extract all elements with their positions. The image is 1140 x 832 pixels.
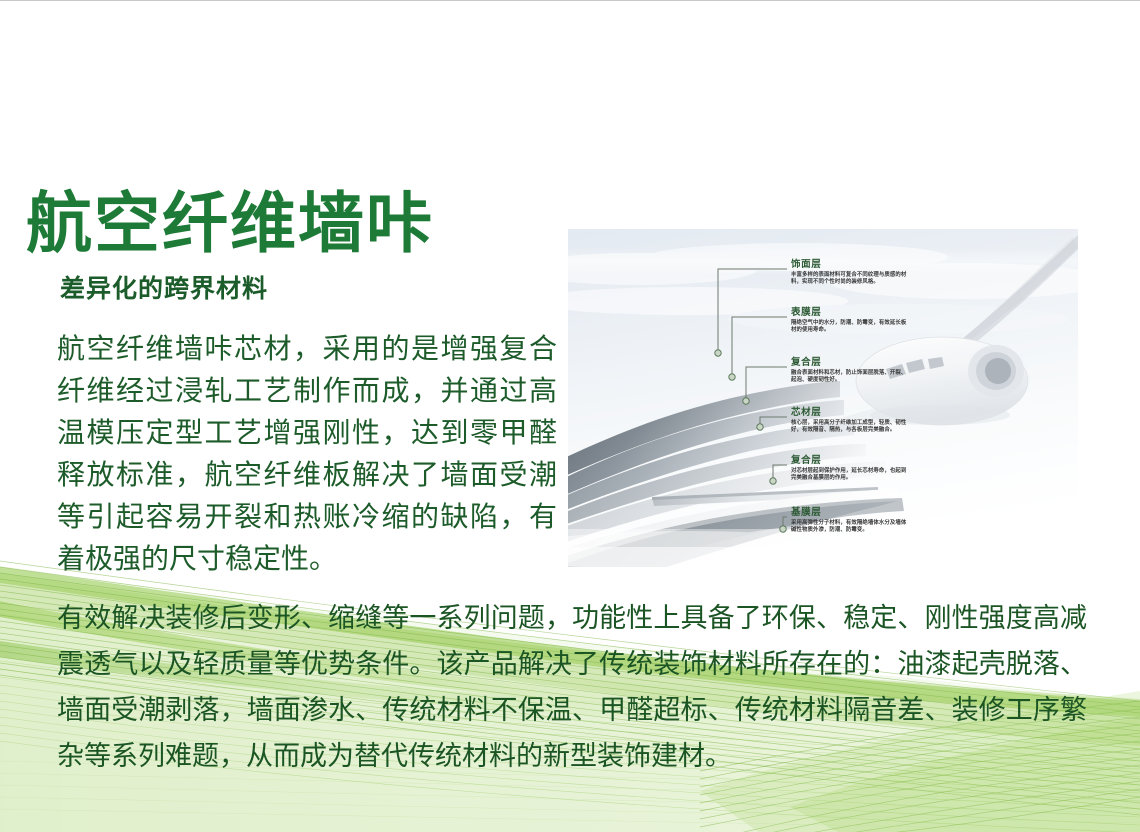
callout-layer-composite-upper: 复合层 融合表面材料和芯材，防止饰面层脱落、开裂、起泡、硬度韧性好。 <box>791 357 909 384</box>
callout-description: 融合表面材料和芯材，防止饰面层脱落、开裂、起泡、硬度韧性好。 <box>791 370 909 385</box>
page-subtitle: 差异化的跨界材料 <box>60 269 556 305</box>
title-block: 航空纤维墙咔 差异化的跨界材料 <box>26 187 556 305</box>
callout-layer-composite-lower: 复合层 对芯材层起到保护作用，延长芯材寿命，也起到完美融合基膜层的作用。 <box>791 455 909 482</box>
poster-root: 航空纤维墙咔 差异化的跨界材料 航空纤维墙咔芯材，采用的是增强复合纤维经过浸轧工… <box>0 1 1140 832</box>
page-title: 航空纤维墙咔 <box>26 187 556 259</box>
callout-layer-decorative-surface: 饰面层 丰富多样的表面材料可复合不同纹理与质感的材料，实现不同个性时尚的装修风格… <box>791 259 909 286</box>
callout-title: 基膜层 <box>791 507 909 518</box>
intro-paragraph: 航空纤维墙咔芯材，采用的是增强复合纤维经过浸轧工艺制作而成，并通过高温模压定型工… <box>57 328 557 580</box>
layered-panel-diagram: 饰面层 丰富多样的表面材料可复合不同纹理与质感的材料，实现不同个性时尚的装修风格… <box>568 229 1078 567</box>
callout-title: 复合层 <box>791 357 909 368</box>
callout-layer-core-material: 芯材层 核心层，采用高分子纤维加工成型，轻质、韧性好，有效隔音、隔热，与各板层完… <box>791 407 909 434</box>
callout-description: 核心层，采用高分子纤维加工成型，轻质、韧性好，有效隔音、隔热，与各板层完美融合。 <box>791 420 909 435</box>
callout-title: 表膜层 <box>791 307 909 318</box>
callout-description: 对芯材层起到保护作用，延长芯材寿命，也起到完美融合基膜层的作用。 <box>791 468 909 483</box>
callout-layer-surface-film: 表膜层 隔绝空气中的水分，防潮、防霉变，有效延长板材的使用寿命。 <box>791 307 909 334</box>
callout-description: 丰富多样的表面材料可复合不同纹理与质感的材料，实现不同个性时尚的装修风格。 <box>791 272 909 287</box>
callout-layer-base-film: 基膜层 采用高弹性分子材料，有效隔绝墙体水分及墙体碱性物质外渗，防潮、防霉变。 <box>791 507 909 534</box>
bottom-paragraph: 有效解决装修后变形、缩缝等一系列问题，功能性上具备了环保、稳定、刚性强度高减震透… <box>57 595 1087 779</box>
callout-title: 复合层 <box>791 455 909 466</box>
callout-title: 芯材层 <box>791 407 909 418</box>
callout-title: 饰面层 <box>791 259 909 270</box>
callout-description: 采用高弹性分子材料，有效隔绝墙体水分及墙体碱性物质外渗，防潮、防霉变。 <box>791 520 909 535</box>
callout-description: 隔绝空气中的水分，防潮、防霉变，有效延长板材的使用寿命。 <box>791 320 909 335</box>
